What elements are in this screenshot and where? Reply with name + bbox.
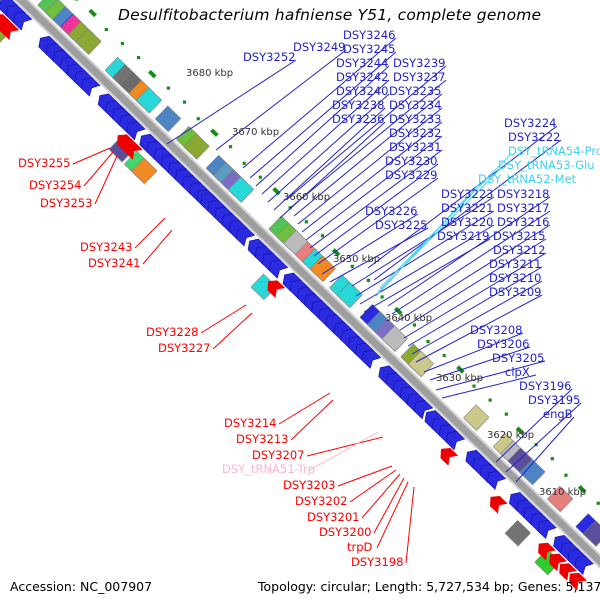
gene-label-dsy3249[interactable]: DSY3249 [293, 42, 345, 53]
gene-label-dsy3196[interactable]: DSY3196 [519, 381, 571, 392]
gene-label-dsy3231[interactable]: DSY3231 [389, 142, 441, 153]
gene-label-dsy3207[interactable]: DSY3207 [252, 450, 304, 461]
ruler-tick-label: 3650 kbp [333, 254, 380, 265]
gene-label-dsy3254[interactable]: DSY3254 [29, 180, 81, 191]
leader-line [338, 466, 392, 486]
gene-label-dsy3230[interactable]: DSY3230 [385, 156, 437, 167]
gene-label-dsy3200[interactable]: DSY3200 [319, 527, 371, 538]
gene-label-dsy3224[interactable]: DSY3224 [504, 118, 556, 129]
gene-label-dsy3245[interactable]: DSY3245 [343, 44, 395, 55]
ruler-tick-label: 3610 kbp [539, 487, 586, 498]
trna-label-dsy-trna53-glu[interactable]: DSY_tRNA53-Glu [498, 160, 595, 171]
leader-line [307, 437, 383, 456]
gene-label-dsy3226[interactable]: DSY3226 [365, 206, 417, 217]
trna-label-dsy-trna52-met[interactable]: DSY_tRNA52-Met [478, 174, 576, 185]
trna-dot-marker [121, 42, 124, 45]
gene-label-dsy3205[interactable]: DSY3205 [492, 353, 544, 364]
leader-line [213, 313, 252, 349]
trna-tick-marker [210, 128, 219, 136]
gene-label-dsy3218[interactable]: DSY3218 [497, 189, 549, 200]
trna-dot-marker [305, 220, 308, 223]
gene-label-dsy3240[interactable]: DSY3240 [336, 86, 388, 97]
rna-feature-arrow[interactable] [486, 492, 508, 514]
gene-label-dsy3223[interactable]: DSY3223 [441, 189, 493, 200]
leader-line [279, 393, 330, 424]
leader-line [406, 487, 414, 563]
gene-label-dsy3209[interactable]: DSY3209 [489, 287, 541, 298]
gene-label-dsy3246[interactable]: DSY3246 [343, 30, 395, 41]
gene-label-dsy3202[interactable]: DSY3202 [295, 496, 347, 507]
genome-map-view: Desulfitobacterium hafniense Y51, comple… [0, 0, 600, 600]
ruler-tick-label: 3680 kbp [186, 68, 233, 79]
ruler-tick-label: 3630 kbp [436, 373, 483, 384]
gene-label-dsy3210[interactable]: DSY3210 [489, 273, 541, 284]
gene-label-dsy3229[interactable]: DSY3229 [385, 170, 437, 181]
gene-label-dsy3228[interactable]: DSY3228 [146, 327, 198, 338]
trna-label-dsy-trna54-pro[interactable]: DSY_tRNA54-Pro [508, 146, 600, 157]
leader-line [516, 417, 574, 482]
ruler-tick-label: 3620 kbp [487, 430, 534, 441]
gene-label-dsy3239[interactable]: DSY3239 [393, 58, 445, 69]
gene-label-dsy3252[interactable]: DSY3252 [243, 52, 295, 63]
gene-label-dsy3214[interactable]: DSY3214 [224, 418, 276, 429]
gene-label-dsy3234[interactable]: DSY3234 [389, 100, 441, 111]
gene-label-trpd[interactable]: trpD [347, 542, 372, 553]
trna-dot-marker [489, 399, 492, 402]
gene-label-dsy3236[interactable]: DSY3236 [332, 114, 384, 125]
leader-line [291, 400, 333, 440]
gene-label-dsy3203[interactable]: DSY3203 [283, 480, 335, 491]
gene-label-dsy3233[interactable]: DSY3233 [389, 114, 441, 125]
trna-dot-marker [380, 295, 383, 298]
trna-dot-marker [564, 474, 567, 477]
gene-label-dsy3253[interactable]: DSY3253 [40, 198, 92, 209]
gene-label-dsy3208[interactable]: DSY3208 [470, 325, 522, 336]
gene-label-dsy3244[interactable]: DSY3244 [336, 58, 388, 69]
trna-dot-marker [426, 340, 429, 343]
gene-label-dsy3195[interactable]: DSY3195 [528, 395, 580, 406]
leader-line [310, 432, 378, 470]
trna-dot-marker [351, 265, 354, 268]
trna-tick-marker [88, 9, 97, 17]
ruler-tick-label: 3660 kbp [283, 192, 330, 203]
gene-label-dsy3221[interactable]: DSY3221 [441, 203, 493, 214]
trna-dot-marker [75, 0, 78, 1]
leader-line [201, 305, 246, 333]
gene-label-clpx[interactable]: clpX [505, 367, 530, 378]
gene-label-dsy3241[interactable]: DSY3241 [88, 258, 140, 269]
gene-label-dsy3215[interactable]: DSY3215 [493, 231, 545, 242]
page-title: Desulfitobacterium hafniense Y51, comple… [118, 6, 541, 24]
gene-label-dsy3232[interactable]: DSY3232 [389, 128, 441, 139]
gene-label-dsy3222[interactable]: DSY3222 [508, 132, 560, 143]
leader-line [377, 482, 408, 548]
gene-label-dsy3227[interactable]: DSY3227 [158, 343, 210, 354]
trna-dot-marker [183, 101, 186, 104]
gene-glyph-distal[interactable] [504, 520, 531, 547]
trna-dot-marker [197, 117, 200, 120]
trna-dot-marker [472, 385, 475, 388]
trna-dot-marker [597, 502, 600, 505]
gene-label-dsy3211[interactable]: DSY3211 [489, 259, 541, 270]
gene-label-dsy3238[interactable]: DSY3238 [332, 100, 384, 111]
gene-label-dsy3242[interactable]: DSY3242 [336, 72, 388, 83]
trna-dot-marker [321, 234, 324, 237]
trna-dot-marker [443, 354, 446, 357]
trna-tick-marker [148, 70, 157, 78]
genome-map-canvas [0, 0, 600, 600]
gene-label-dsy3235[interactable]: DSY3235 [389, 86, 441, 97]
gene-label-dsy3217[interactable]: DSY3217 [497, 203, 549, 214]
accession-text: Accession: NC_007907 [10, 579, 152, 594]
gene-label-dsy3201[interactable]: DSY3201 [307, 512, 359, 523]
gene-label-dsy3198[interactable]: DSY3198 [351, 557, 403, 568]
ruler-tick-label: 3640 kbp [385, 313, 432, 324]
trna-dot-marker [243, 162, 246, 165]
gene-label-dsy3219[interactable]: DSY3219 [437, 231, 489, 242]
ruler-tick-label: 3670 kbp [232, 127, 279, 138]
gene-label-dsy3220[interactable]: DSY3220 [441, 217, 493, 228]
trna-dot-marker [259, 176, 262, 179]
gene-label-engb[interactable]: engB [543, 409, 573, 420]
gene-label-dsy3216[interactable]: DSY3216 [497, 217, 549, 228]
gene-label-dsy3237[interactable]: DSY3237 [393, 72, 445, 83]
trna-dot-marker [367, 279, 370, 282]
trna-dot-marker [167, 87, 170, 90]
gene-label-dsy3213[interactable]: DSY3213 [236, 434, 288, 445]
gene-label-dsy3225[interactable]: DSY3225 [375, 220, 427, 231]
trna-dot-marker [505, 413, 508, 416]
gene-label-dsy3255[interactable]: DSY3255 [18, 158, 70, 169]
leader-line [95, 156, 117, 204]
trna-dot-marker [229, 145, 232, 148]
trna-dot-marker [137, 56, 140, 59]
genome-stats-text: Topology: circular; Length: 5,727,534 bp… [258, 579, 600, 594]
trna-dot-marker [105, 28, 108, 31]
trna-dot-marker [551, 457, 554, 460]
gene-label-dsy3206[interactable]: DSY3206 [477, 339, 529, 350]
trna-label-dsy-trna51-trp[interactable]: DSY_tRNA51-Trp [222, 464, 315, 475]
gene-label-dsy3212[interactable]: DSY3212 [493, 245, 545, 256]
gene-label-dsy3243[interactable]: DSY3243 [80, 242, 132, 253]
